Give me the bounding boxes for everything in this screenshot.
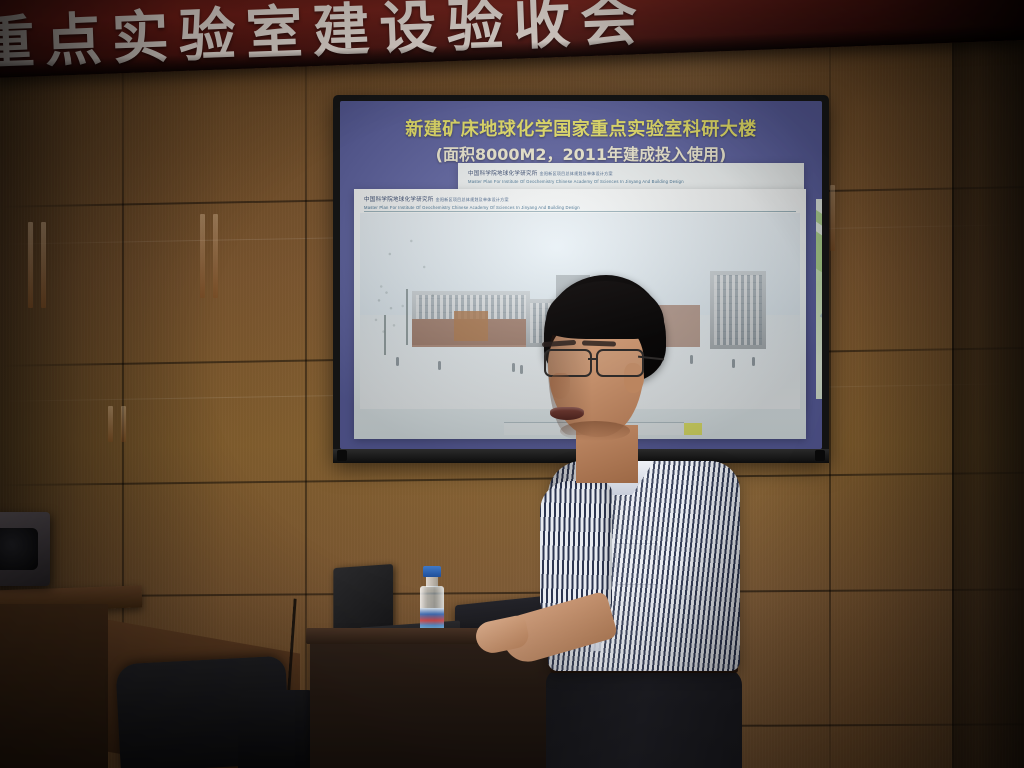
slide-title: 新建矿床地球化学国家重点实验室科研大楼 xyxy=(340,115,822,141)
wall-vertical-seam xyxy=(829,0,831,768)
photo-scene: 重点实验室建设验收会 新建矿床地球化学国家重点实验室科研大楼 (面积8000M2… xyxy=(0,0,1024,768)
render-tree xyxy=(370,277,400,355)
screen-weight-tab xyxy=(337,450,347,461)
cabinet-handle-icon[interactable] xyxy=(200,214,218,298)
aerial-site-plan xyxy=(816,199,822,399)
render-person xyxy=(438,361,441,370)
render-person xyxy=(396,357,399,366)
presenter-chin-shadow xyxy=(560,421,630,441)
cabinet-handle-icon[interactable] xyxy=(28,222,46,308)
projector-lens-icon xyxy=(0,528,38,570)
cabinet-handle-icon[interactable] xyxy=(830,185,835,251)
sheet-back-header-en: Master Plan For Institute Of Geochemistr… xyxy=(468,179,794,184)
sheet-back-header: 中国科学院地球化学研究所 金阳新区项目总体规划及单体设计方案 Master Pl… xyxy=(468,169,794,184)
sheet-back-header-cn: 中国科学院地球化学研究所 xyxy=(468,171,538,177)
presenter-mouth xyxy=(550,407,584,420)
sheet-rule xyxy=(364,211,796,212)
bottle-neck xyxy=(426,577,438,587)
presenter-trousers xyxy=(546,669,742,768)
chair-secondary[interactable] xyxy=(238,690,318,768)
eyeglass-lens xyxy=(544,349,592,377)
eyeglass-lens xyxy=(596,349,644,377)
tree-trunk xyxy=(406,289,408,345)
site-building xyxy=(820,305,822,328)
wall-pillar xyxy=(952,0,1024,768)
bottle-cap xyxy=(423,566,441,577)
sheet-front-header-cn: 中国科学院地球化学研究所 xyxy=(364,197,434,203)
sheet-front-header-en: Master Plan For Institute Of Geochemistr… xyxy=(364,205,796,210)
side-table-body xyxy=(0,604,108,768)
render-person xyxy=(752,357,755,366)
eyeglasses-icon xyxy=(544,349,650,375)
presenter-nose xyxy=(550,373,570,399)
projector-device xyxy=(0,512,50,586)
tree-trunk xyxy=(384,315,386,355)
sheet-front-header-cn-small: 金阳新区项目总体规划及单体设计方案 xyxy=(436,197,509,202)
sheet-back-header-cn-small: 金阳新区项目总体规划及单体设计方案 xyxy=(540,171,613,176)
presenter-shirt-pocket xyxy=(616,543,658,585)
cabinet-handle-icon[interactable] xyxy=(108,406,126,442)
slide-subtitle: (面积8000M2，2011年建成投入使用) xyxy=(340,141,822,165)
sheet-front-header: 中国科学院地球化学研究所 金阳新区项目总体规划及单体设计方案 Master Pl… xyxy=(364,195,796,210)
render-person xyxy=(512,363,515,372)
render-entrance xyxy=(454,311,488,341)
eyeglass-bridge xyxy=(588,358,598,360)
screen-weight-tab xyxy=(815,450,825,461)
presenter xyxy=(520,275,750,768)
